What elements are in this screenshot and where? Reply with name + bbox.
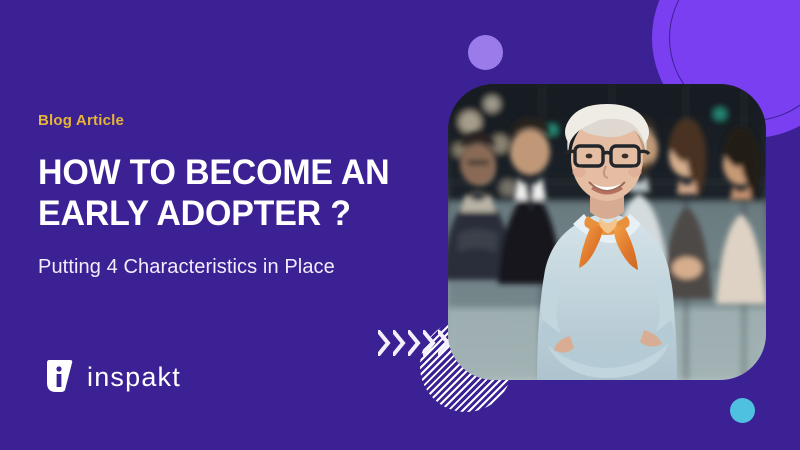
- chevron-right-icon: [393, 330, 406, 356]
- chevron-right-icon: [423, 330, 436, 356]
- banner-text-block: Blog Article HOW TO BECOME AN EARLY ADOP…: [38, 112, 438, 279]
- inspakt-leaf-mark-icon: [46, 358, 76, 397]
- eyebrow-label: Blog Article: [38, 112, 438, 129]
- chevron-right-icon: [408, 330, 421, 356]
- blog-article-banner: Blog Article HOW TO BECOME AN EARLY ADOP…: [0, 0, 800, 450]
- brand-logo[interactable]: inspakt: [46, 358, 181, 397]
- brand-wordmark: inspakt: [87, 362, 181, 393]
- chevron-right-icon: [378, 330, 391, 356]
- chevron-arrow-group: [378, 330, 451, 356]
- decorative-circle-lavender: [468, 35, 503, 70]
- subtitle: Putting 4 Characteristics in Place: [38, 256, 438, 279]
- hero-photo: [448, 84, 766, 380]
- page-title: HOW TO BECOME AN EARLY ADOPTER ?: [38, 153, 426, 234]
- decorative-circle-cyan: [730, 398, 755, 423]
